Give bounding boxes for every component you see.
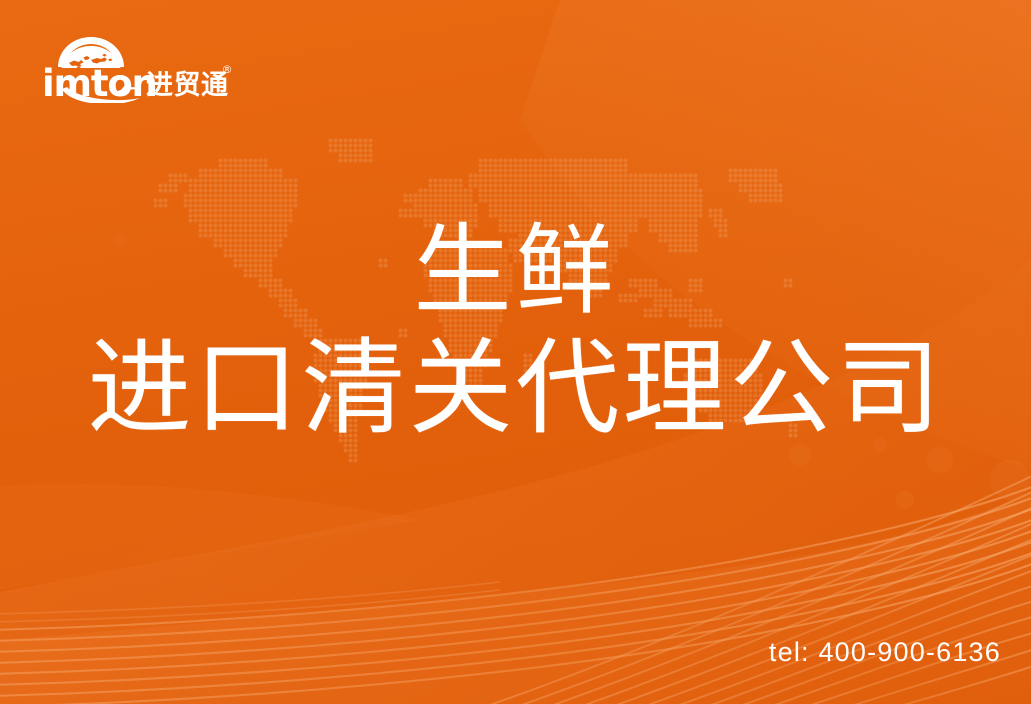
brand-logo[interactable]: imton 进贸通 ® — [36, 27, 236, 103]
telephone-text: tel: 400-900-6136 — [769, 637, 1001, 668]
logo-registered-mark: ® — [222, 63, 233, 76]
logo-chinese-name: 进贸通 — [146, 70, 229, 101]
stripe-bundle-right — [470, 470, 1031, 704]
logo-wordmark: imton — [42, 62, 157, 103]
poster-canvas: imton 进贸通 ® 生鲜 进口清关代理公司 tel: 400-900-613… — [0, 0, 1031, 704]
headline-block: 生鲜 进口清关代理公司 — [0, 222, 1031, 440]
headline-line-2: 进口清关代理公司 — [0, 336, 1031, 440]
stripe-bundle-main — [0, 482, 1031, 704]
stripe-bundle-left — [0, 582, 500, 622]
headline-line-1: 生鲜 — [0, 222, 1031, 320]
